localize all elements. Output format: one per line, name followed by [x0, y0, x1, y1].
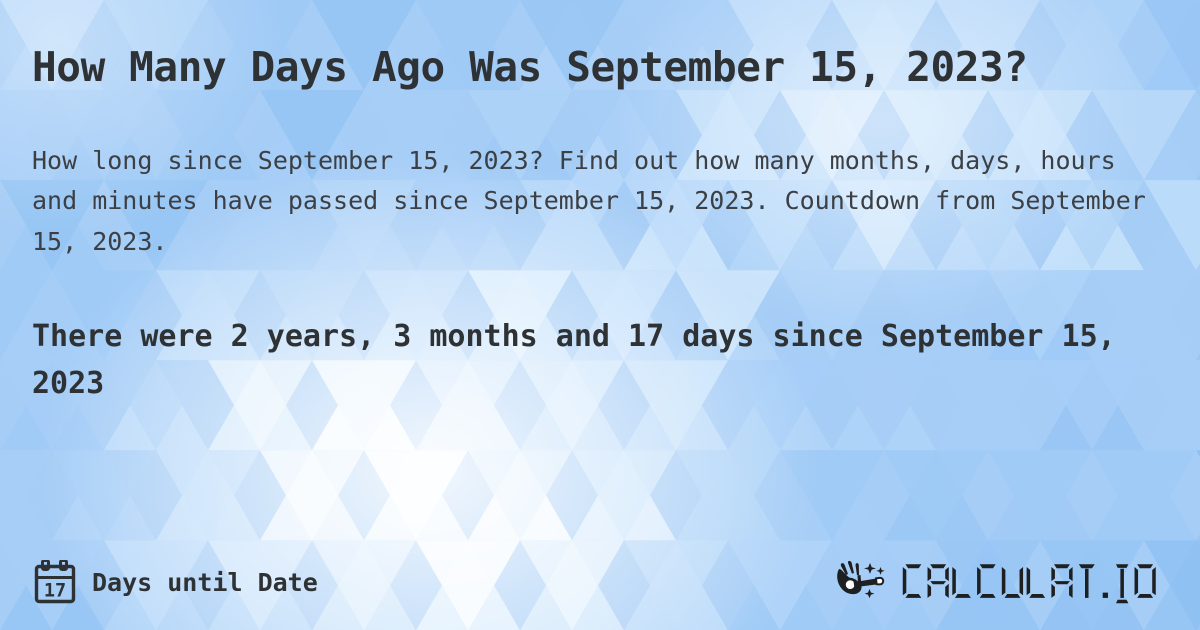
magic-wand-hand-icon [835, 560, 895, 604]
brand-logo: CALCULAT.IO [835, 559, 1166, 605]
footer-brand-left: 17 Days until Date [34, 560, 318, 604]
footer-label: Days until Date [92, 568, 318, 597]
page-title: How Many Days Ago Was September 15, 2023… [32, 40, 1152, 95]
og-image-canvas: How Many Days Ago Was September 15, 2023… [0, 0, 1200, 630]
brand-wordmark: CALCULAT.IO [901, 559, 1166, 605]
calendar-day-number: 17 [44, 581, 66, 602]
footer: 17 Days until Date [0, 534, 1200, 630]
calendar-icon: 17 [34, 560, 76, 604]
result-statement: There were 2 years, 3 months and 17 days… [32, 314, 1168, 407]
page-description: How long since September 15, 2023? Find … [32, 141, 1168, 263]
